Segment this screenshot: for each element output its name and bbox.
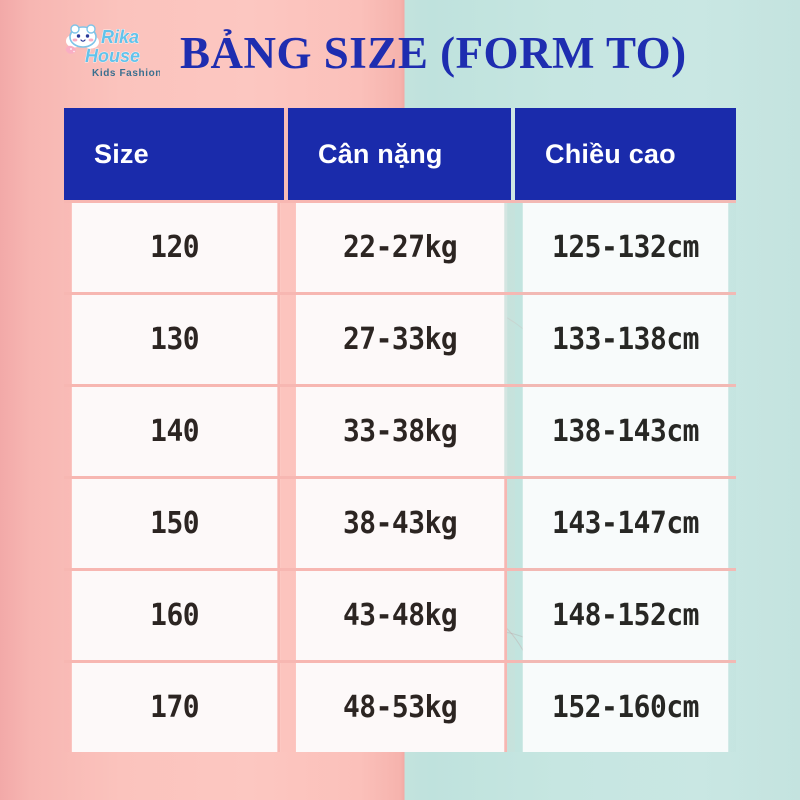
table-header-row: Size Cân nặng Chiều cao — [64, 108, 736, 200]
table-row: 140 33-38kg 138-143cm — [64, 384, 736, 476]
table-row: 150 38-43kg 143-147cm — [64, 476, 736, 568]
cell-weight: 33-38kg — [296, 387, 507, 476]
page-title: BẢNG SIZE (FORM TO) — [180, 22, 760, 84]
cloud-mascot-icon: Rika House Kids Fashion — [62, 22, 160, 82]
cell-height: 133-138cm — [523, 295, 729, 384]
cell-size: 160 — [72, 571, 280, 660]
column-header-height: Chiều cao — [515, 108, 736, 200]
table-row: 130 27-33kg 133-138cm — [64, 292, 736, 384]
cell-size: 140 — [72, 387, 280, 476]
page-header: Rika House Kids Fashion BẢNG SIZE (FORM … — [0, 0, 800, 108]
cell-size: 120 — [72, 203, 280, 292]
cell-height: 138-143cm — [523, 387, 729, 476]
brand-logo: Rika House Kids Fashion — [62, 22, 160, 82]
cell-height: 125-132cm — [523, 203, 729, 292]
column-header-weight: Cân nặng — [288, 108, 515, 200]
size-chart-page: Rika House Kids Fashion BẢNG SIZE (FORM … — [0, 0, 800, 800]
table-row: 120 22-27kg 125-132cm — [64, 200, 736, 292]
cell-size: 130 — [72, 295, 280, 384]
cell-weight: 43-48kg — [296, 571, 507, 660]
cell-height: 148-152cm — [523, 571, 729, 660]
cell-size: 170 — [72, 663, 280, 752]
cell-size: 150 — [72, 479, 280, 568]
cell-weight: 22-27kg — [296, 203, 507, 292]
cell-weight: 27-33kg — [296, 295, 507, 384]
table-row: 160 43-48kg 148-152cm — [64, 568, 736, 660]
table-row: 170 48-53kg 152-160cm — [64, 660, 736, 752]
size-table: Size Cân nặng Chiều cao 120 22-27kg 125-… — [64, 108, 736, 752]
svg-text:Kids Fashion: Kids Fashion — [92, 68, 160, 79]
cell-weight: 38-43kg — [296, 479, 507, 568]
cell-weight: 48-53kg — [296, 663, 507, 752]
svg-text:House: House — [85, 46, 140, 66]
svg-text:Rika: Rika — [101, 27, 139, 47]
cell-height: 143-147cm — [523, 479, 729, 568]
column-header-size: Size — [64, 108, 288, 200]
cell-height: 152-160cm — [523, 663, 729, 752]
